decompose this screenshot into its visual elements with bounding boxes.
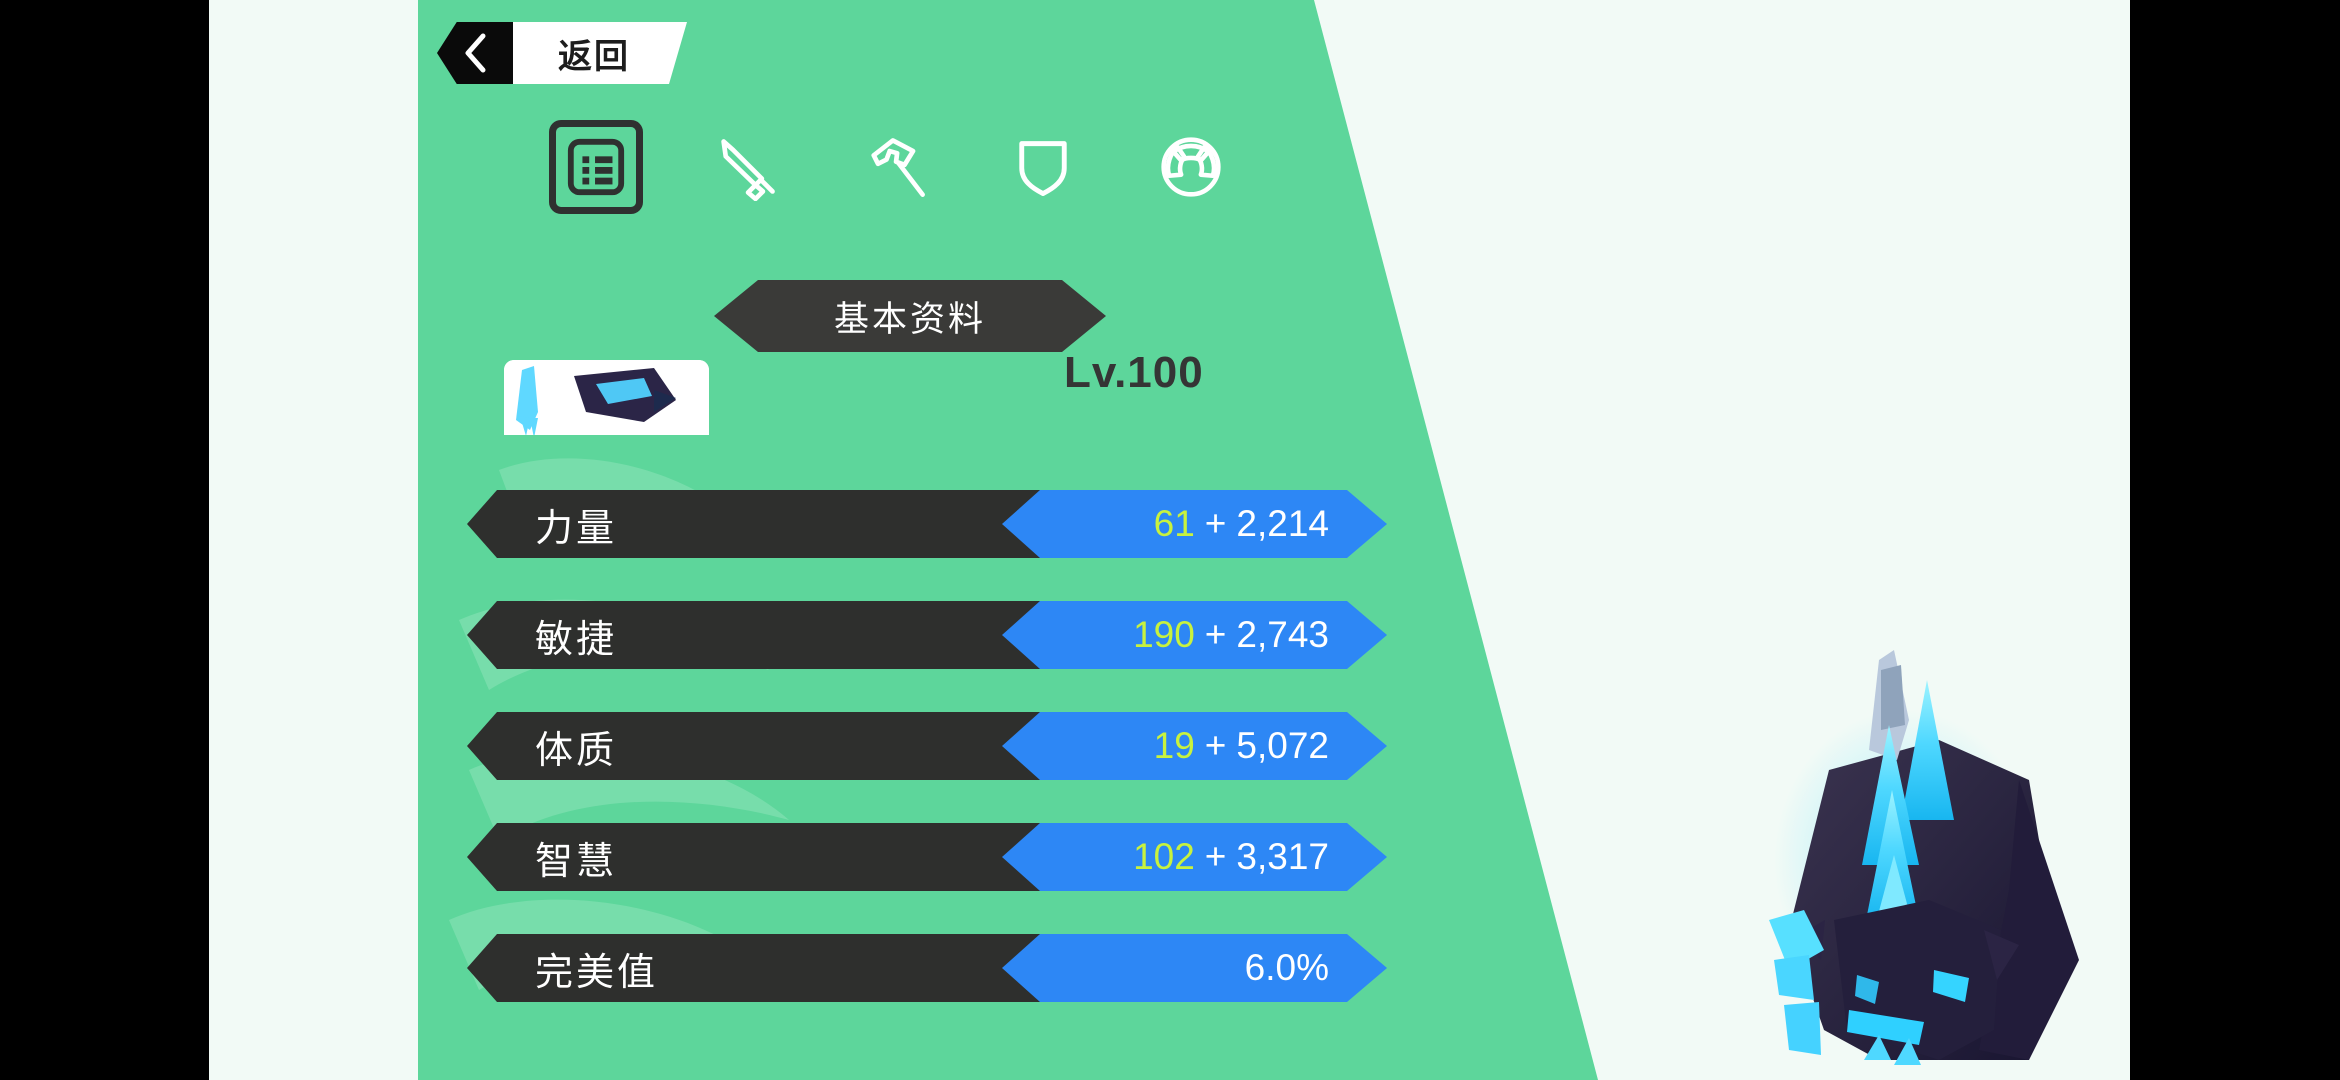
back-button-label: 返回	[507, 22, 687, 84]
stat-plus-sign: +	[1205, 836, 1227, 878]
stat-label-plate: 体质	[467, 712, 1077, 780]
category-tab-bar[interactable]	[549, 120, 1235, 214]
stat-label: 完美值	[535, 941, 658, 996]
stat-row[interactable]: 敏捷 190 + 2,743	[467, 601, 1367, 669]
stat-bonus-value: 2,214	[1236, 503, 1329, 545]
stat-row[interactable]: 体质 19 + 5,072	[467, 712, 1367, 780]
stat-label-plate: 敏捷	[467, 601, 1077, 669]
stat-base-value: 190	[1133, 614, 1195, 656]
stat-bonus-value: 5,072	[1236, 725, 1329, 767]
stat-bonus-value: 2,743	[1236, 614, 1329, 656]
tab-armor[interactable]	[999, 123, 1087, 211]
pickaxe-icon	[861, 133, 929, 201]
letterbox-left	[0, 0, 209, 1080]
stat-plus-sign: +	[1205, 725, 1227, 767]
stat-value-plate: 6.0%	[1002, 934, 1387, 1002]
back-button[interactable]: 返回	[437, 22, 687, 84]
stat-plus-sign: +	[1205, 614, 1227, 656]
tab-weapon[interactable]	[703, 123, 791, 211]
section-title-banner: 基本资料	[714, 280, 1106, 352]
pet-model-render	[1729, 630, 2129, 1080]
tab-skill[interactable]	[1147, 123, 1235, 211]
stat-single-value: 6.0%	[1245, 947, 1329, 989]
stat-plus-sign: +	[1205, 503, 1227, 545]
chevron-left-icon	[462, 33, 488, 73]
stat-row[interactable]: 智慧 102 + 3,317	[467, 823, 1367, 891]
stat-label-plate: 智慧	[467, 823, 1077, 891]
pet-portrait-thumbnail[interactable]	[504, 360, 709, 435]
stat-label: 体质	[535, 719, 617, 774]
back-button-hex	[437, 22, 513, 84]
app-screen: Lv.100 返回	[0, 0, 2340, 1080]
stat-label-plate: 力量	[467, 490, 1077, 558]
stat-value-plate: 61 + 2,214	[1002, 490, 1387, 558]
tab-tool[interactable]	[851, 123, 939, 211]
stat-label: 智慧	[535, 830, 617, 885]
stat-row[interactable]: 力量 61 + 2,214	[467, 490, 1367, 558]
stat-value-plate: 102 + 3,317	[1002, 823, 1387, 891]
stat-base-value: 61	[1154, 503, 1195, 545]
stat-label-plate: 完美值	[467, 934, 1077, 1002]
stat-value-plate: 19 + 5,072	[1002, 712, 1387, 780]
pet-level-text: Lv.100	[1064, 348, 1204, 398]
game-viewport: Lv.100 返回	[209, 0, 2130, 1080]
stat-bonus-value: 3,317	[1236, 836, 1329, 878]
stat-row[interactable]: 完美值 6.0%	[467, 934, 1367, 1002]
stat-base-value: 102	[1133, 836, 1195, 878]
sword-icon	[713, 133, 781, 201]
stat-base-value: 19	[1154, 725, 1195, 767]
fan-circle-icon	[1156, 132, 1226, 202]
shield-icon	[1009, 133, 1077, 201]
stat-value-plate: 190 + 2,743	[1002, 601, 1387, 669]
list-icon	[565, 136, 627, 198]
stat-list: 力量 61 + 2,214 敏捷 190 + 2,743	[467, 490, 1367, 1045]
letterbox-right	[2130, 0, 2340, 1080]
stat-label: 力量	[535, 497, 617, 552]
tab-list[interactable]	[549, 120, 643, 214]
stat-label: 敏捷	[535, 608, 617, 663]
